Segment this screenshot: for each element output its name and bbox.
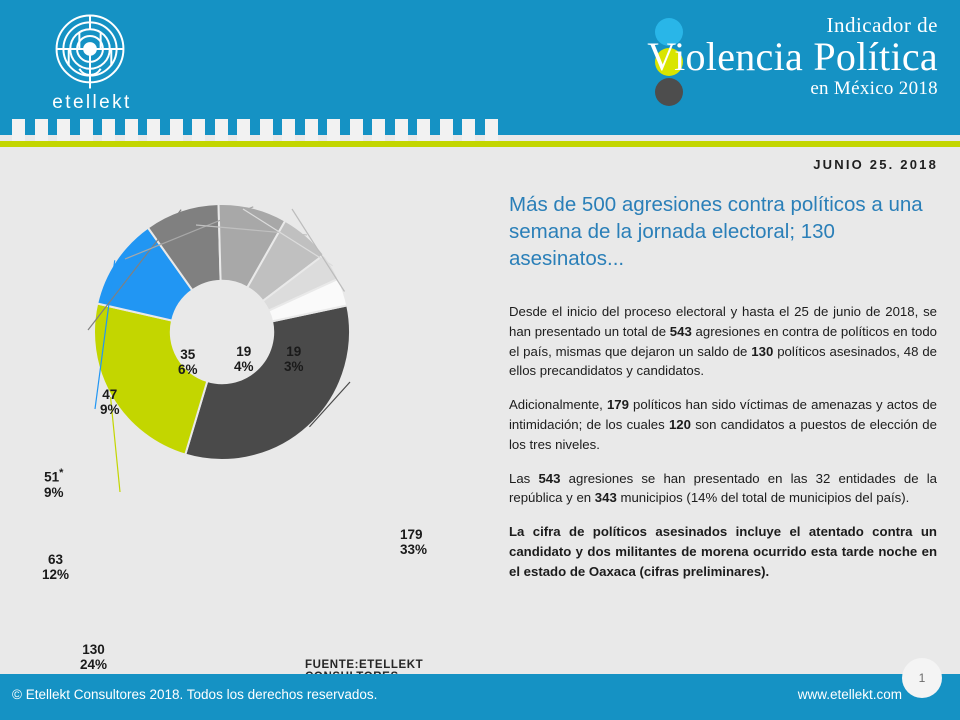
footer-copyright: © Etellekt Consultores 2018. Todos los d… <box>12 687 377 702</box>
page-footer: © Etellekt Consultores 2018. Todos los d… <box>0 674 960 720</box>
title-eyebrow: Indicador de <box>647 14 938 36</box>
publication-date: JUNIO 25. 2018 <box>813 157 938 172</box>
logo-wordmark: etellekt <box>36 92 148 114</box>
slice-label-05: 19 3% <box>284 344 304 374</box>
slice-label-07: 35 6% <box>178 347 198 377</box>
body-paragraph-2: Adicionalmente, 179 políticos han sido v… <box>509 395 937 454</box>
labyrinth-logo-icon <box>52 14 128 90</box>
page-header: etellekt Indicador de Violencia Política… <box>0 0 960 135</box>
footnote-asterisk: * <box>59 467 63 479</box>
infographic-page: etellekt Indicador de Violencia Política… <box>0 0 960 720</box>
title-subtitle: en México 2018 <box>647 78 938 101</box>
donut-chart <box>0 147 497 507</box>
article-panel: JUNIO 25. 2018 Más de 500 agresiones con… <box>497 147 960 675</box>
body-paragraph-1: Desde el inicio del proceso electoral y … <box>509 302 937 381</box>
article-body: Desde el inicio del proceso electoral y … <box>509 302 937 582</box>
page-title: Violencia Política <box>647 36 938 78</box>
slice-label-08: 51* 9% <box>44 467 64 500</box>
donut-slice-02[interactable] <box>185 305 350 460</box>
slice-label-04: 19 4% <box>234 344 254 374</box>
slice-label-01: 130 24% <box>80 642 107 672</box>
donut-slice-01[interactable] <box>94 304 207 455</box>
body-paragraph-4: La cifra de políticos asesinados incluye… <box>509 522 937 581</box>
body-paragraph-3: Las 543 agresiones se han presentado en … <box>509 469 937 509</box>
footer-website-link[interactable]: www.etellekt.com <box>798 687 902 702</box>
brand-logo: etellekt <box>36 14 148 118</box>
slice-label-03: 47 9% <box>100 387 120 417</box>
donut-chart-svg <box>0 147 497 507</box>
chart-panel: 179 33% 130 24% 63 12% 51* 9% 47 9% 35 6… <box>0 147 497 675</box>
header-title-block: Indicador de Violencia Política en Méxic… <box>647 14 938 101</box>
slice-label-06: 63 12% <box>42 552 69 582</box>
page-number-badge: 1 <box>902 658 942 698</box>
slice-label-02: 179 33% <box>400 527 427 557</box>
article-headline: Más de 500 agresiones contra políticos a… <box>509 191 934 272</box>
